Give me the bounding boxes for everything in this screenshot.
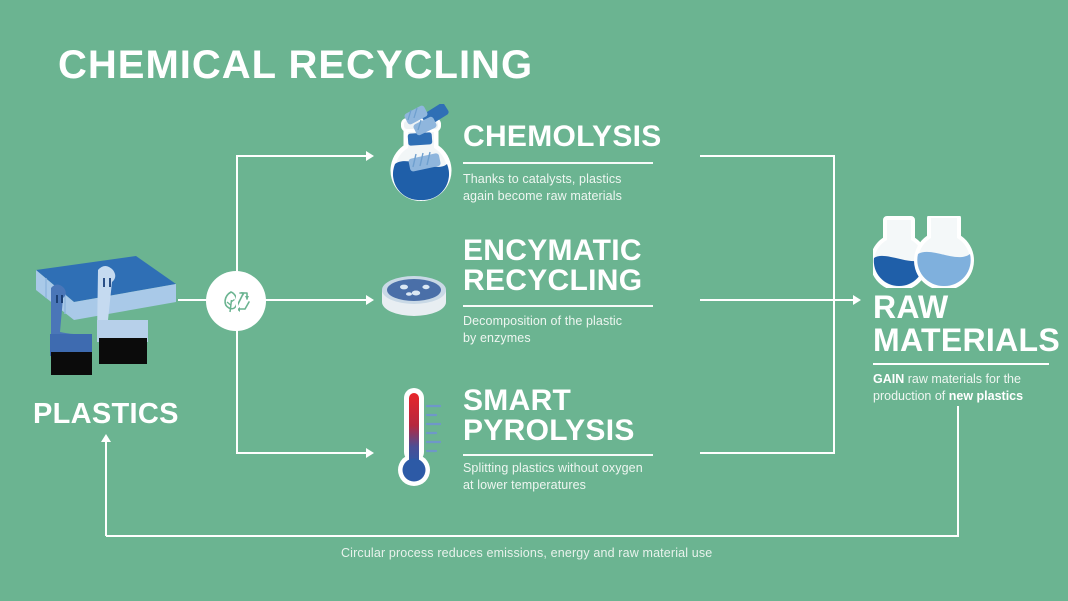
flask-with-tablets-icon xyxy=(378,104,464,216)
connector-return-left-vertical xyxy=(105,442,107,536)
encymatic-title-line-2: RECYCLING xyxy=(463,266,642,296)
thermometer-icon xyxy=(394,384,452,492)
pyrolysis-title-line-1: SMART xyxy=(463,386,635,416)
pyrolysis-icon xyxy=(394,384,452,492)
encymatic-description-line-2: by enzymes xyxy=(463,330,673,347)
connector-branch-middle xyxy=(264,299,366,301)
connector-merge-bottom xyxy=(700,452,835,454)
connector-merge-vertical xyxy=(833,155,835,454)
connector-return-bottom xyxy=(106,535,959,537)
encymatic-description: Decomposition of the plastic by enzymes xyxy=(463,313,673,347)
connector-return-right-vertical xyxy=(957,406,959,536)
pyrolysis-description-line-2: at lower temperatures xyxy=(463,477,678,494)
petri-dish-icon xyxy=(378,268,450,322)
chemolysis-icon xyxy=(378,104,464,216)
raw-materials-desc-bold-new-plastics: new plastics xyxy=(949,389,1023,403)
connector-plastics-to-hub xyxy=(178,299,208,301)
chemolysis-title: CHEMOLYSIS xyxy=(463,122,662,152)
arrow-return-to-plastics xyxy=(101,434,111,442)
arrow-to-pyrolysis xyxy=(366,448,374,458)
encymatic-description-line-1: Decomposition of the plastic xyxy=(463,313,673,330)
bottom-caption: Circular process reduces emissions, ener… xyxy=(341,546,712,560)
arrow-to-raw-materials xyxy=(853,295,861,305)
raw-materials-desc-bold-gain: GAIN xyxy=(873,372,904,386)
raw-materials-title-line-1: RAW xyxy=(873,291,1060,324)
two-flasks-icon xyxy=(873,216,989,288)
encymatic-icon xyxy=(378,268,450,322)
connector-branch-top xyxy=(236,155,366,157)
raw-materials-title: RAW MATERIALS xyxy=(873,291,1060,356)
chemolysis-divider xyxy=(463,162,653,164)
pyrolysis-description: Splitting plastics without oxygen at low… xyxy=(463,460,678,494)
pyrolysis-title: SMART PYROLYSIS xyxy=(463,386,635,446)
raw-materials-icon xyxy=(873,216,989,288)
pyrolysis-title-line-2: PYROLYSIS xyxy=(463,416,635,446)
connector-merge-to-raw xyxy=(700,299,853,301)
chemolysis-description: Thanks to catalysts, plastics again beco… xyxy=(463,171,673,205)
raw-materials-divider xyxy=(873,363,1049,365)
chemolysis-description-line-2: again become raw materials xyxy=(463,188,673,205)
encymatic-title: ENCYMATIC RECYCLING xyxy=(463,236,642,296)
encymatic-divider xyxy=(463,305,653,307)
plastics-icon xyxy=(18,248,188,383)
raw-materials-title-line-2: MATERIALS xyxy=(873,324,1060,357)
connector-merge-top xyxy=(700,155,835,157)
connector-branch-bottom xyxy=(236,452,366,454)
pyrolysis-description-line-1: Splitting plastics without oxygen xyxy=(463,460,678,477)
encymatic-title-line-1: ENCYMATIC xyxy=(463,236,642,266)
chemolysis-description-line-1: Thanks to catalysts, plastics xyxy=(463,171,673,188)
connector-branch-vertical xyxy=(236,155,238,454)
raw-materials-description: GAIN raw materials for the production of… xyxy=(873,371,1041,405)
pyrolysis-divider xyxy=(463,454,653,456)
page-title: CHEMICAL RECYCLING xyxy=(58,44,533,86)
infographic-canvas: CHEMICAL RECYCLING PLASTICS xyxy=(0,0,1068,601)
plastics-label: PLASTICS xyxy=(33,398,179,431)
arrow-to-chemolysis xyxy=(366,151,374,161)
car-seats-icon xyxy=(18,248,188,383)
arrow-to-encymatic xyxy=(366,295,374,305)
